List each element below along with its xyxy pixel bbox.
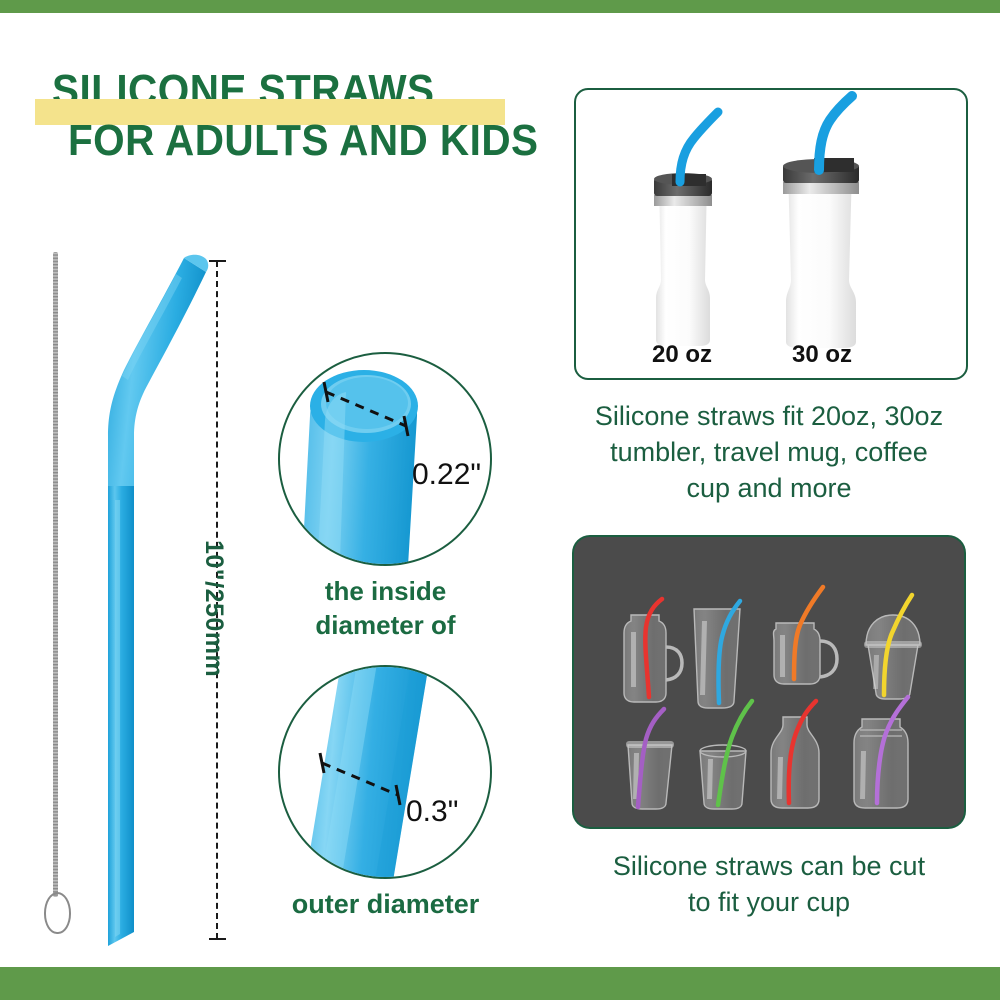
tumbler-30oz	[783, 96, 859, 348]
outer-diameter-caption-line1: outer diameter	[278, 887, 493, 921]
outer-diameter-circle	[278, 665, 492, 879]
infographic-canvas: SILICONE STRAWS FOR ADULTS AND KIDS	[0, 0, 1000, 1000]
cup-item-mason-jar-handle	[624, 599, 682, 702]
callout-outer-diameter: outer diameter	[278, 665, 493, 921]
tumbler-caption-line3: cup and more	[564, 470, 974, 506]
dimension-cap-bottom	[209, 938, 226, 940]
tumbler-label-20oz: 20 oz	[622, 341, 742, 369]
cup-item-short-tumbler	[626, 709, 674, 809]
inside-diameter-caption-line2: diameter of	[278, 608, 493, 642]
callout-inside-diameter: the inside diameter of	[278, 352, 493, 642]
tumbler-caption-line2: tumbler, travel mug, coffee	[564, 434, 974, 470]
cup-item-mug-handle	[774, 587, 838, 684]
cups-caption-line2: to fit your cup	[564, 884, 974, 920]
tumbler-caption-line1: Silicone straws fit 20oz, 30oz	[564, 398, 974, 434]
tumbler-caption: Silicone straws fit 20oz, 30oz tumbler, …	[564, 398, 974, 506]
tumbler-compatibility-box	[574, 88, 968, 380]
cups-compatibility-panel	[574, 537, 964, 827]
cup-item-milk-bottle	[771, 701, 819, 808]
headline-line-2: FOR ADULTS AND KIDS	[68, 116, 513, 166]
tumbler-label-30oz: 30 oz	[762, 341, 882, 369]
cup-item-mason-jar	[854, 697, 908, 808]
cup-item-rocks-glass	[700, 701, 752, 809]
cleaning-brush	[42, 252, 68, 942]
top-green-bar	[0, 0, 1000, 13]
bottom-green-bar	[0, 967, 1000, 1000]
headline: SILICONE STRAWS FOR ADULTS AND KIDS	[52, 66, 552, 166]
straw-length-label: 10"/250mm	[199, 540, 228, 677]
cup-item-dome-lid-cup	[864, 595, 922, 699]
brush-wire-loop	[44, 892, 71, 934]
inside-diameter-value: 0.22"	[412, 458, 481, 492]
brush-bristle-shaft	[53, 252, 58, 897]
cup-item-tall-glass	[694, 601, 740, 708]
outer-diameter-value: 0.3"	[406, 795, 458, 829]
inside-diameter-caption-line1: the inside	[278, 574, 493, 608]
tumbler-20oz	[654, 112, 718, 346]
cups-caption-line1: Silicone straws can be cut	[564, 848, 974, 884]
cups-caption: Silicone straws can be cut to fit your c…	[564, 848, 974, 920]
